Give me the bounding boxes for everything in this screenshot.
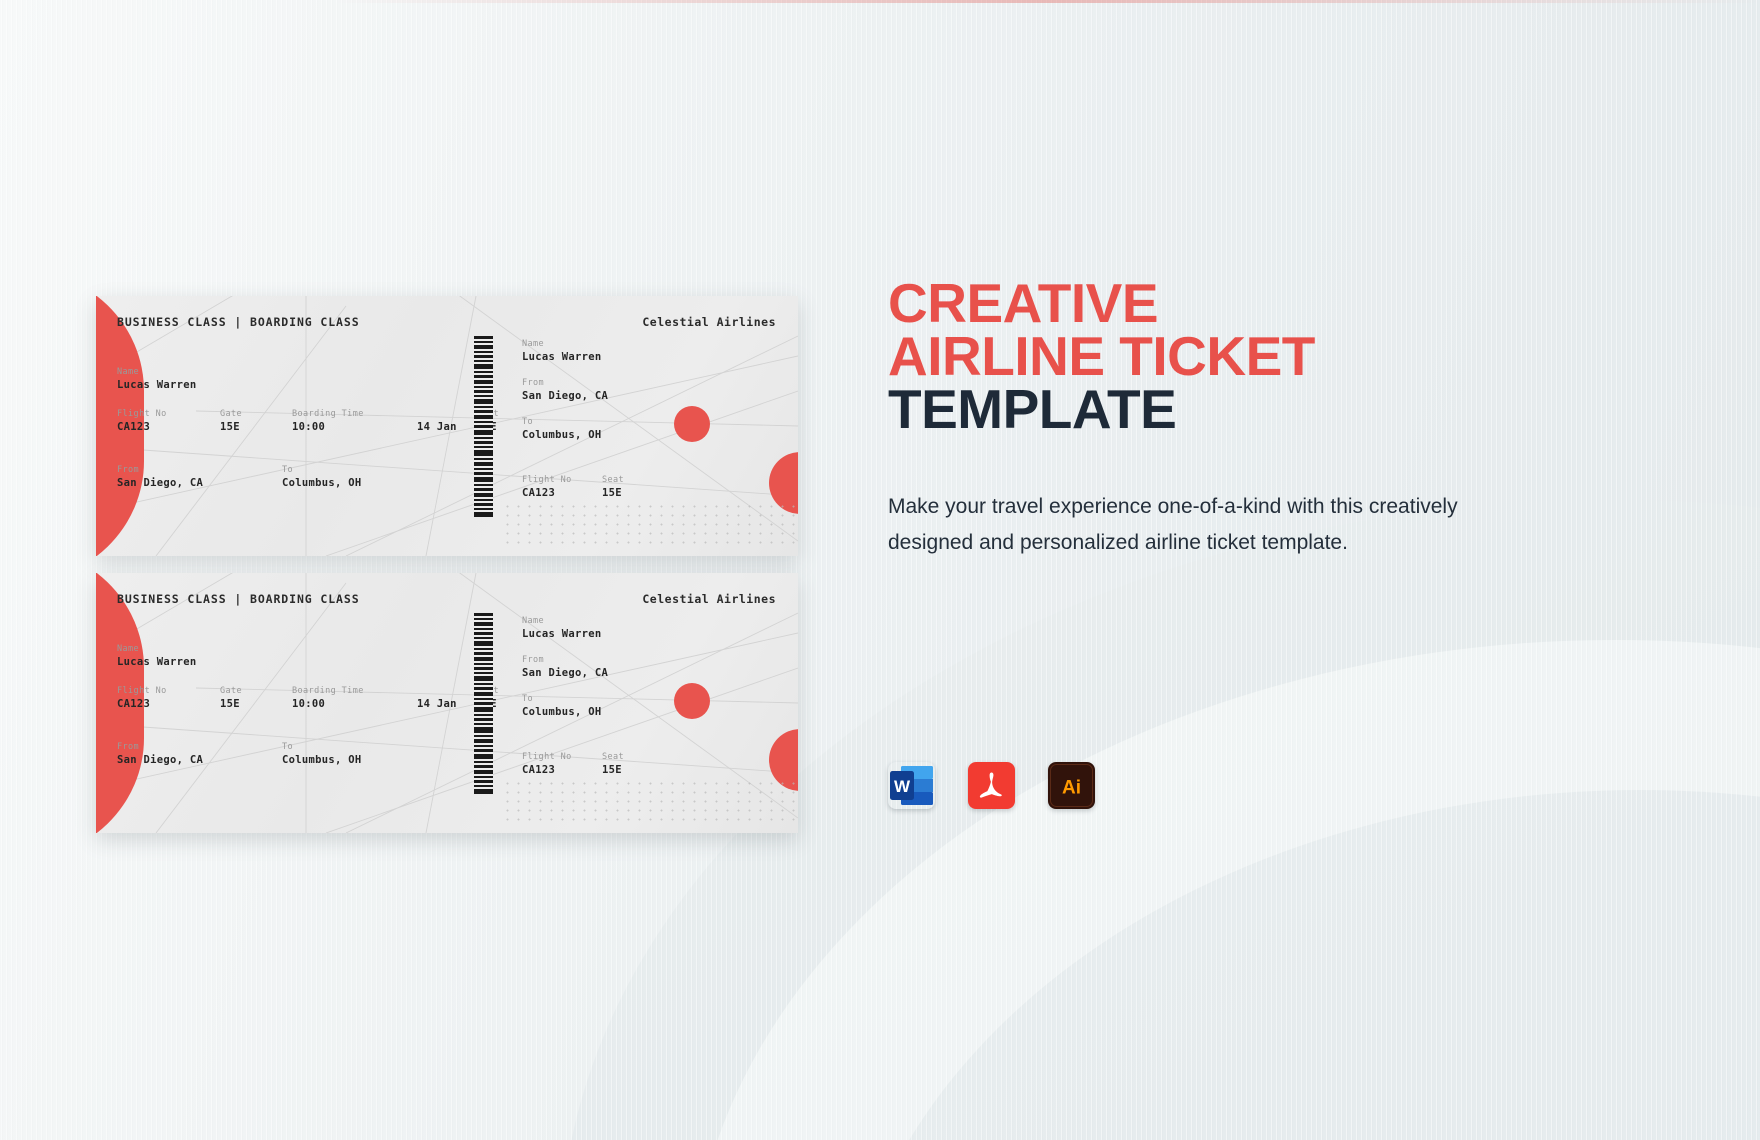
stub-from-value: San Diego, CA: [522, 389, 608, 403]
ticket-field-gate: Gate 15E: [220, 685, 292, 711]
stub-flight-no-label: Flight No: [522, 751, 602, 763]
ticket-field-boarding-date: 14 Jan: [417, 408, 477, 434]
ticket-barcode: [474, 336, 493, 517]
top-accent-line: [330, 0, 1760, 3]
ticket-from-label: From: [117, 741, 282, 753]
ticket-field-gate: Gate 15E: [220, 408, 292, 434]
ticket-flight-no-label: Flight No: [117, 685, 220, 697]
stub-field-name: Name Lucas Warren: [522, 338, 608, 364]
ticket-to-value: Columbus, OH: [282, 476, 462, 490]
stub-name-value: Lucas Warren: [522, 350, 608, 364]
ticket-boarding-time-label: Boarding Time: [292, 408, 417, 420]
stub-from-label: From: [522, 654, 608, 666]
ticket-flight-no-value: CA123: [117, 697, 220, 711]
stub-seat-label: Seat: [602, 751, 624, 763]
stub-to-label: To: [522, 693, 608, 705]
ticket-class-header: BUSINESS CLASS | BOARDING CLASS: [117, 315, 360, 329]
ticket-card-top[interactable]: BUSINESS CLASS | BOARDING CLASS Celestia…: [96, 296, 798, 556]
stub-seat-value: 15E: [602, 763, 624, 777]
ticket-from-label: From: [117, 464, 282, 476]
ticket-red-dot: [674, 406, 710, 442]
ticket-field-name: Name Lucas Warren: [117, 366, 196, 392]
ticket-field-from: From San Diego, CA: [117, 741, 282, 767]
stub-name-value: Lucas Warren: [522, 627, 608, 641]
stub-field-from: From San Diego, CA: [522, 377, 608, 403]
stub-field-flight-no: Flight No CA123: [522, 751, 602, 777]
ticket-dot-pattern: [502, 502, 798, 550]
stub-flight-no-label: Flight No: [522, 474, 602, 486]
stub-field-to: To Columbus, OH: [522, 416, 608, 442]
svg-text:W: W: [894, 777, 911, 796]
ticket-field-boarding-time: Boarding Time 10:00: [292, 685, 417, 711]
stub-from-value: San Diego, CA: [522, 666, 608, 680]
svg-text:Ai: Ai: [1062, 778, 1081, 799]
ticket-flight-no-value: CA123: [117, 420, 220, 434]
stub-field-to: To Columbus, OH: [522, 693, 608, 719]
ticket-name-value: Lucas Warren: [117, 378, 196, 392]
ticket-name-label: Name: [117, 366, 196, 378]
ticket-card-bottom[interactable]: BUSINESS CLASS | BOARDING CLASS Celestia…: [96, 573, 798, 833]
ticket-field-to: To Columbus, OH: [282, 741, 462, 767]
ticket-barcode: [474, 613, 493, 794]
stub-field-seat: Seat 15E: [602, 751, 624, 777]
ticket-field-boarding-time: Boarding Time 10:00: [292, 408, 417, 434]
headline-line-1: CREATIVE: [888, 277, 1588, 330]
headline-line-3: TEMPLATE: [888, 383, 1588, 436]
ticket-stub-bottom-row: Flight No CA123 Seat 15E: [522, 751, 624, 777]
ticket-class-header: BUSINESS CLASS | BOARDING CLASS: [117, 592, 360, 606]
stub-seat-label: Seat: [602, 474, 624, 486]
ticket-to-value: Columbus, OH: [282, 753, 462, 767]
ticket-field-from: From San Diego, CA: [117, 464, 282, 490]
ticket-to-label: To: [282, 741, 462, 753]
ticket-boarding-date-value: 14 Jan: [417, 420, 477, 434]
file-format-icon-row: W Ai: [888, 762, 1095, 809]
ticket-field-boarding-date: 14 Jan: [417, 685, 477, 711]
stub-to-value: Columbus, OH: [522, 428, 608, 442]
stub-name-label: Name: [522, 615, 608, 627]
ticket-stub: Name Lucas Warren From San Diego, CA To …: [522, 615, 608, 732]
ticket-gate-label: Gate: [220, 408, 292, 420]
stub-flight-no-value: CA123: [522, 763, 602, 777]
ticket-field-name: Name Lucas Warren: [117, 643, 196, 669]
headline-line-2: AIRLINE TICKET: [888, 330, 1588, 383]
ticket-flight-no-label: Flight No: [117, 408, 220, 420]
ticket-from-value: San Diego, CA: [117, 753, 282, 767]
stub-field-from: From San Diego, CA: [522, 654, 608, 680]
microsoft-word-icon[interactable]: W: [888, 762, 935, 809]
background-texture: [0, 0, 1760, 1140]
ticket-name-value: Lucas Warren: [117, 655, 196, 669]
ticket-boarding-date-label: [417, 685, 477, 697]
ticket-stub: Name Lucas Warren From San Diego, CA To …: [522, 338, 608, 455]
ticket-boarding-date-value: 14 Jan: [417, 697, 477, 711]
ticket-boarding-time-label: Boarding Time: [292, 685, 417, 697]
ticket-dot-pattern: [502, 779, 798, 827]
ticket-boarding-date-label: [417, 408, 477, 420]
ticket-to-label: To: [282, 464, 462, 476]
stub-to-label: To: [522, 416, 608, 428]
ticket-airline-name: Celestial Airlines: [642, 315, 776, 329]
ticket-field-to: To Columbus, OH: [282, 464, 462, 490]
ticket-stub-bottom-row: Flight No CA123 Seat 15E: [522, 474, 624, 500]
stub-seat-value: 15E: [602, 486, 624, 500]
stub-field-flight-no: Flight No CA123: [522, 474, 602, 500]
ticket-gate-value: 15E: [220, 697, 292, 711]
ticket-name-label: Name: [117, 643, 196, 655]
stub-to-value: Columbus, OH: [522, 705, 608, 719]
ticket-gate-value: 15E: [220, 420, 292, 434]
stub-name-label: Name: [522, 338, 608, 350]
stub-flight-no-value: CA123: [522, 486, 602, 500]
ticket-airline-name: Celestial Airlines: [642, 592, 776, 606]
adobe-illustrator-icon[interactable]: Ai: [1048, 762, 1095, 809]
stub-from-label: From: [522, 377, 608, 389]
ticket-from-value: San Diego, CA: [117, 476, 282, 490]
ticket-red-dot: [674, 683, 710, 719]
adobe-pdf-icon[interactable]: [968, 762, 1015, 809]
headline-block: CREATIVE AIRLINE TICKET TEMPLATE Make yo…: [888, 277, 1588, 561]
stub-field-name: Name Lucas Warren: [522, 615, 608, 641]
ticket-field-flight-no: Flight No CA123: [117, 685, 220, 711]
ticket-gate-label: Gate: [220, 685, 292, 697]
ticket-boarding-time-value: 10:00: [292, 697, 417, 711]
description-text: Make your travel experience one-of-a-kin…: [888, 489, 1528, 561]
ticket-boarding-time-value: 10:00: [292, 420, 417, 434]
ticket-field-flight-no: Flight No CA123: [117, 408, 220, 434]
stub-field-seat: Seat 15E: [602, 474, 624, 500]
